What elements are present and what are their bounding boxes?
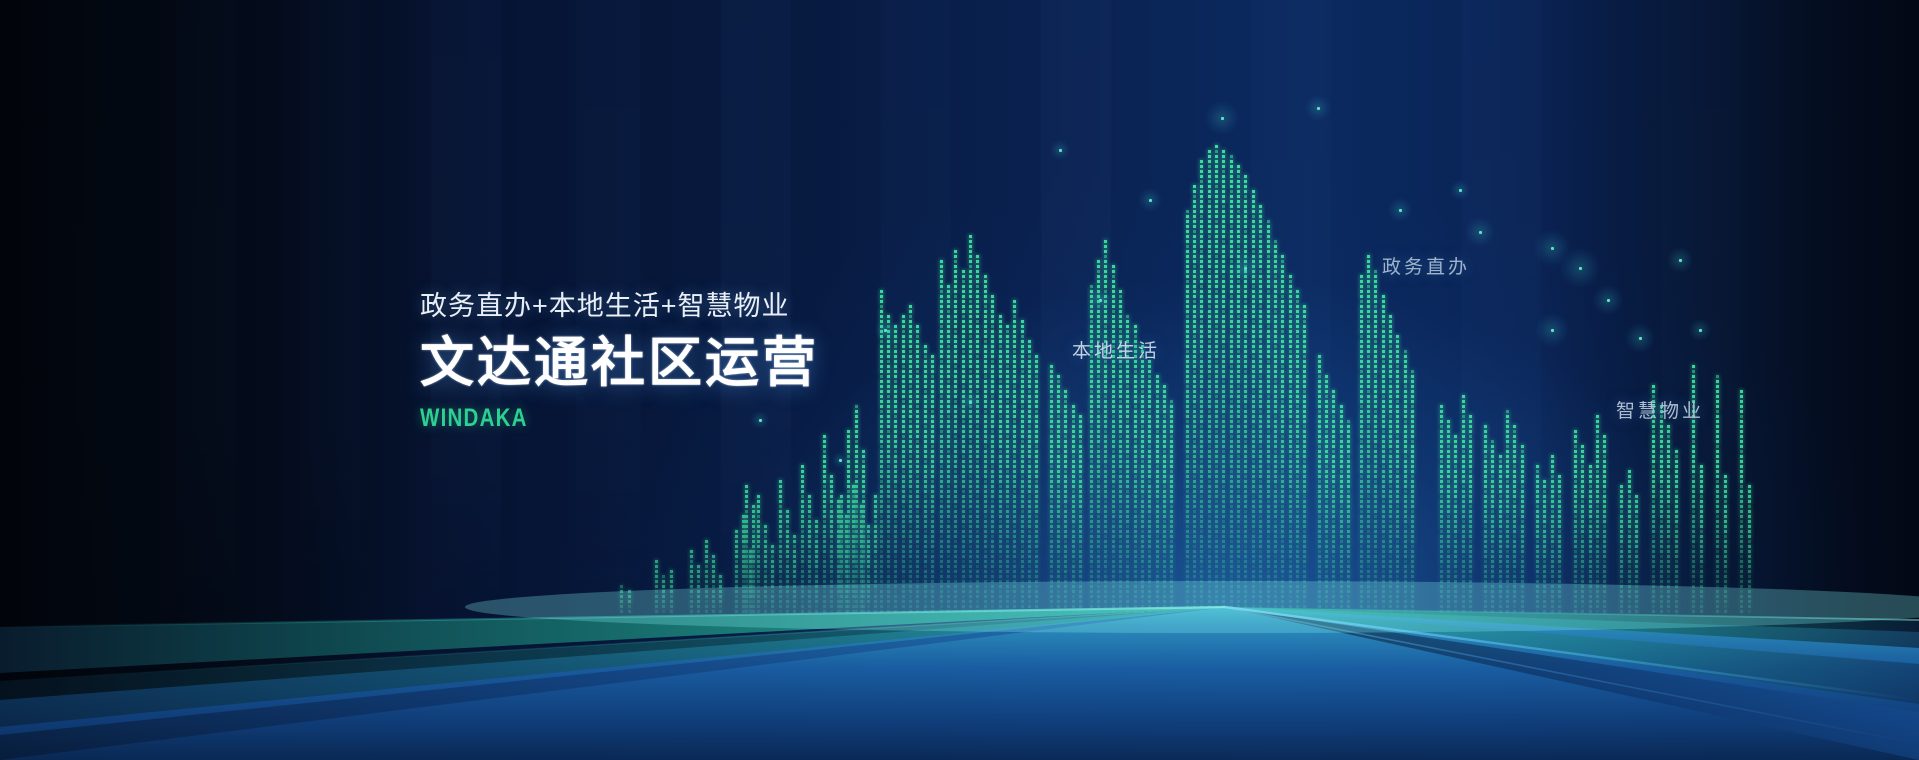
- glow-particle: [1689, 319, 1711, 341]
- glow-particle: [832, 452, 848, 468]
- hero-subtitle: 政务直办+本地生活+智慧物业: [420, 292, 1140, 322]
- glow-particle: [1465, 217, 1495, 247]
- glow-particle: [1593, 285, 1623, 315]
- glow-particle: [1138, 188, 1162, 212]
- glow-particle: [1205, 101, 1239, 135]
- district-label-zhihui: 智慧物业: [1616, 396, 1704, 423]
- glow-particle: [1667, 247, 1693, 273]
- hero-headline: 文达通社区运营: [420, 334, 1140, 392]
- glow-particle: [1305, 95, 1331, 121]
- glow-particle: [1535, 313, 1569, 347]
- glow-particle: [1560, 248, 1600, 288]
- glow-particle: [1232, 255, 1258, 281]
- horizon-haze: [465, 581, 1919, 633]
- hero-banner: 政务直办 本地生活 智慧物业 政务直办+本地生活+智慧物业 文达通社区运营 WI…: [0, 0, 1919, 760]
- glow-particle: [1050, 140, 1070, 160]
- district-label-zhengwu: 政务直办: [1382, 252, 1470, 279]
- glow-particle: [1625, 323, 1655, 353]
- glow-particle: [1450, 180, 1470, 200]
- glow-particle: [1388, 198, 1412, 222]
- brand-wordmark: WINDAKA: [420, 406, 1010, 431]
- hero-copy-block: 政务直办+本地生活+智慧物业 文达通社区运营 WINDAKA: [420, 292, 1140, 431]
